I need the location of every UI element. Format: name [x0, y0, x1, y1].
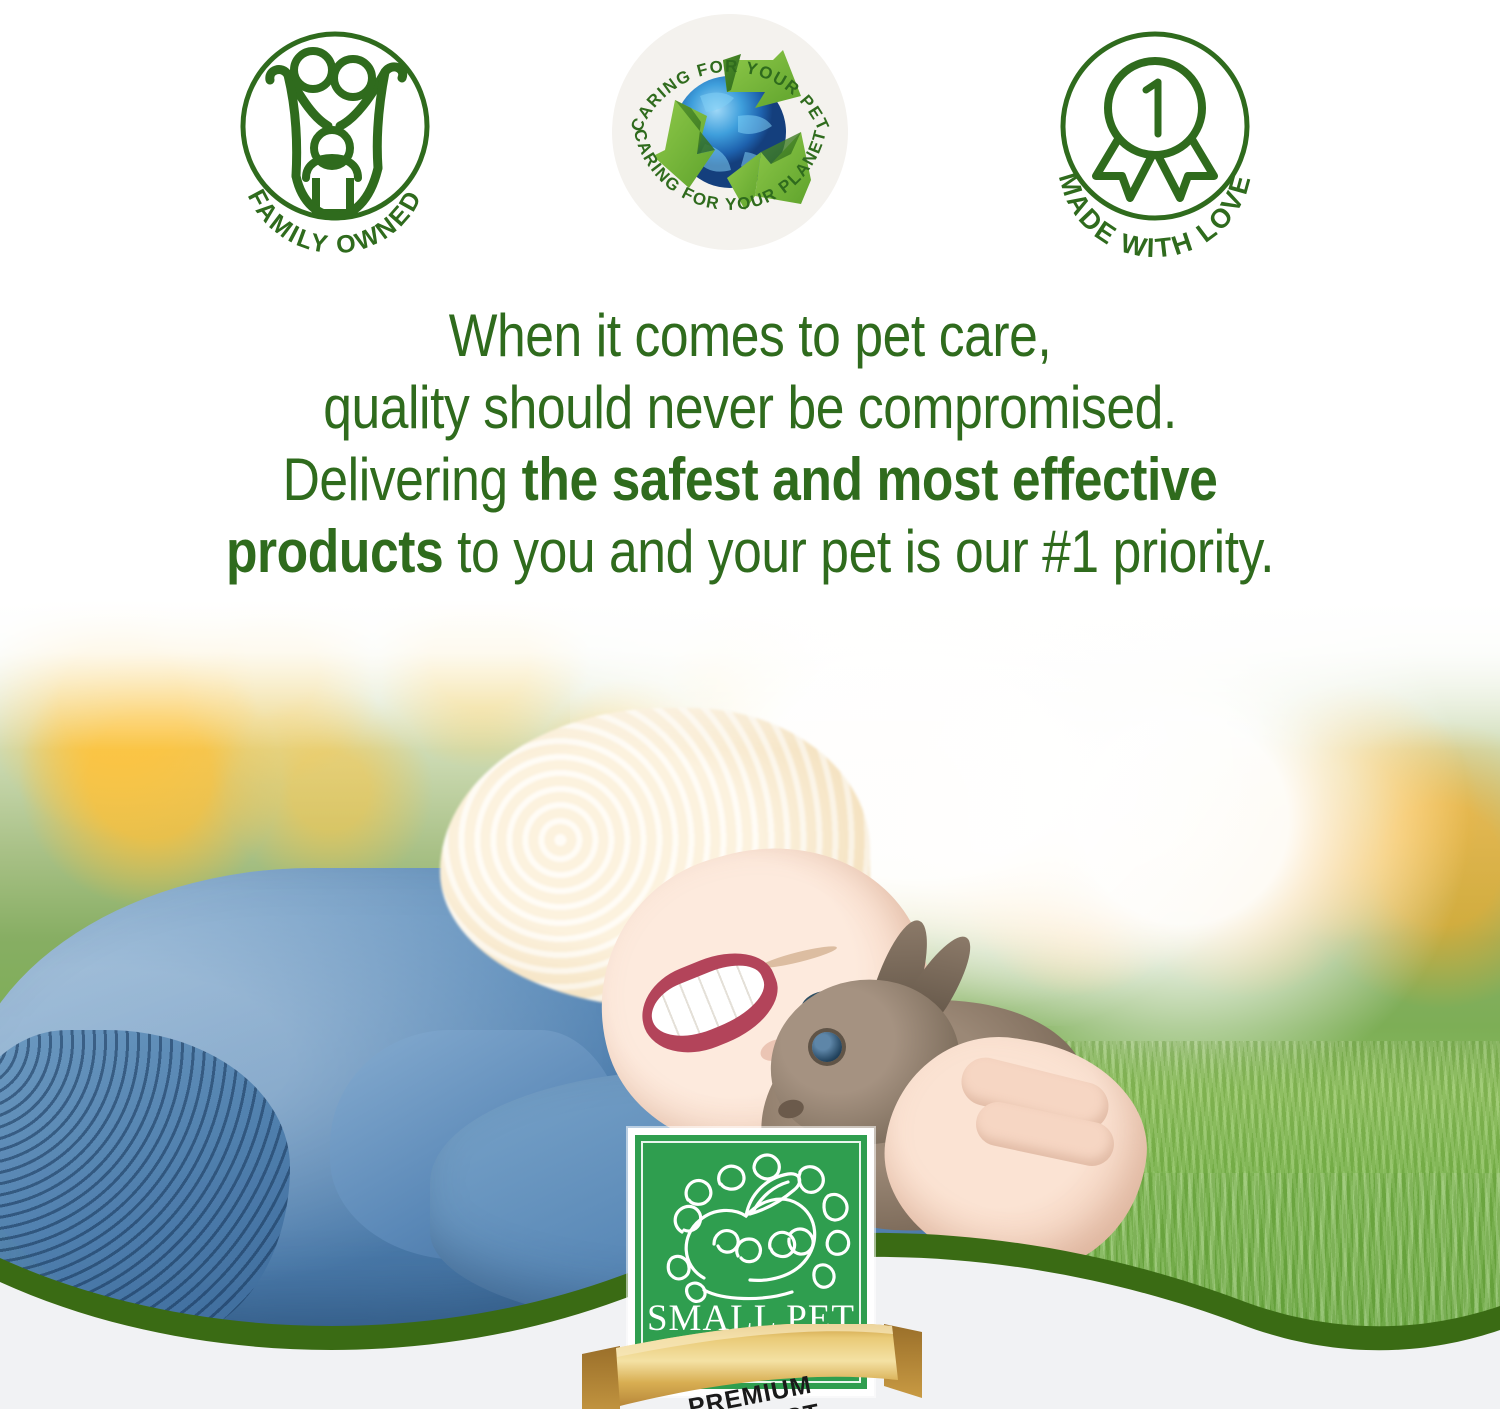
trust-badge-row: FAMILY OWNED [0, 0, 1500, 290]
family-icon: FAMILY OWNED [210, 8, 460, 268]
headline-line-4-rest: to you and your pet is our #1 priority. [443, 518, 1274, 585]
small-pet-select-logo[interactable]: SMALL PET ··SELECT·· [628, 1128, 874, 1396]
headline-line-3-prefix: Delivering [283, 446, 522, 513]
headline-line-1: When it comes to pet care, [105, 300, 1395, 372]
photo-top-fade [0, 600, 1500, 750]
badge-family-label: FAMILY OWNED [242, 185, 428, 260]
award-ribbon-icon: MADE WITH LOVE [1030, 8, 1280, 268]
headline: When it comes to pet care, quality shoul… [105, 300, 1395, 588]
headline-line-4: products to you and your pet is our #1 p… [105, 516, 1395, 588]
headline-line-3-bold: the safest and most effective [522, 446, 1218, 513]
swirl-rabbit-icon [642, 1140, 860, 1310]
badge-family-owned: FAMILY OWNED [210, 8, 460, 268]
headline-line-2: quality should never be compromised. [105, 372, 1395, 444]
recycle-globe-icon: CARING FOR YOUR PET CARING FOR YOUR PLAN… [605, 4, 855, 264]
promo-page: FAMILY OWNED [0, 0, 1500, 1409]
badge-caring-planet: CARING FOR YOUR PET CARING FOR YOUR PLAN… [605, 4, 855, 264]
headline-line-4-bold: products [226, 518, 443, 585]
headline-line-3: Delivering the safest and most effective [105, 444, 1395, 516]
badge-made-with-love: MADE WITH LOVE [1030, 8, 1280, 268]
rabbit-eye [812, 1032, 842, 1062]
svg-text:FAMILY OWNED: FAMILY OWNED [242, 185, 428, 260]
premium-product-ribbon: PREMIUM PRODUCT [576, 1324, 928, 1409]
